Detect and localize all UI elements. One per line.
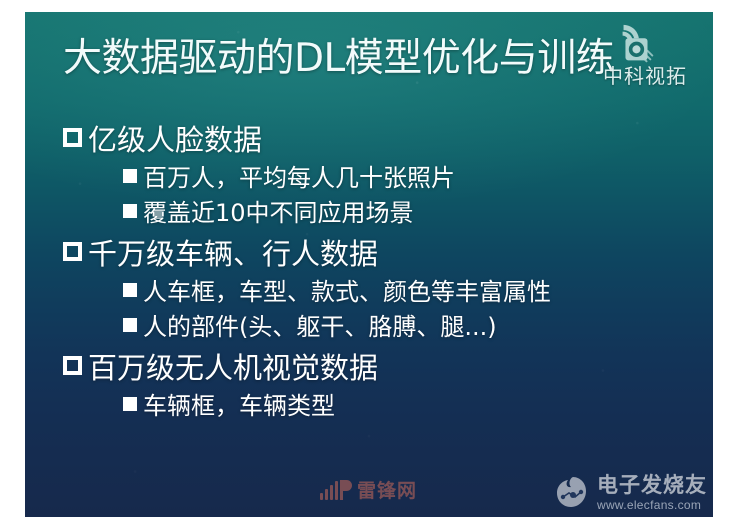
- bullet-group: 百万级无人机视觉数据 车辆框，车辆类型: [63, 348, 699, 424]
- bullet-level1-label: 亿级人脸数据: [88, 120, 262, 161]
- elecfans-watermark: 电子发烧友 www.elecfans.com: [553, 473, 707, 513]
- brand-logo: 中科视拓: [585, 20, 705, 98]
- leifeng-bars-icon: [320, 480, 352, 500]
- bullet-level2: 人的部件(头、躯干、胳膊、腿...): [123, 310, 699, 345]
- bullet-level2: 车辆框，车辆类型: [123, 389, 699, 424]
- camera-aperture-icon: [613, 22, 659, 68]
- bullet-level2-label: 百万人，平均每人几十张照片: [143, 161, 455, 196]
- bullet-level2: 百万人，平均每人几十张照片: [123, 161, 699, 196]
- slide-title: 大数据驱动的DL模型优化与训练: [63, 34, 614, 84]
- hollow-square-bullet-icon: [63, 356, 82, 375]
- bullet-level1: 千万级车辆、行人数据: [63, 234, 699, 275]
- bullet-level1-label: 百万级无人机视觉数据: [88, 348, 378, 389]
- bullet-level2: 人车框，车型、款式、颜色等丰富属性: [123, 275, 699, 310]
- elecfans-watermark-text: 电子发烧友: [597, 475, 707, 496]
- leifeng-watermark: 雷锋网: [320, 476, 417, 503]
- filled-square-bullet-icon: [123, 169, 137, 183]
- filled-square-bullet-icon: [123, 204, 137, 218]
- bullet-level1: 百万级无人机视觉数据: [63, 348, 699, 389]
- bullet-level2: 覆盖近10中不同应用场景: [123, 196, 699, 231]
- leifeng-watermark-text: 雷锋网: [357, 476, 417, 503]
- hollow-square-bullet-icon: [63, 128, 82, 147]
- filled-square-bullet-icon: [123, 283, 137, 297]
- hollow-square-bullet-icon: [63, 242, 82, 261]
- bullet-level1-label: 千万级车辆、行人数据: [88, 234, 378, 275]
- presentation-slide: 大数据驱动的DL模型优化与训练 中科视拓: [25, 12, 713, 517]
- elecfans-circuit-icon: [553, 473, 593, 513]
- bullet-group: 千万级车辆、行人数据 人车框，车型、款式、颜色等丰富属性 人的部件(头、躯干、胳…: [63, 234, 699, 345]
- bullet-level1: 亿级人脸数据: [63, 120, 699, 161]
- slide-content: 亿级人脸数据 百万人，平均每人几十张照片 覆盖近10中不同应用场景 千万级车辆、…: [63, 120, 699, 427]
- elecfans-watermark-words: 电子发烧友 www.elecfans.com: [597, 475, 707, 511]
- filled-square-bullet-icon: [123, 318, 137, 332]
- bullet-level2-label: 人的部件(头、躯干、胳膊、腿...): [143, 310, 497, 345]
- bullet-group: 亿级人脸数据 百万人，平均每人几十张照片 覆盖近10中不同应用场景: [63, 120, 699, 231]
- brand-name: 中科视拓: [585, 64, 705, 88]
- screenshot-root: 大数据驱动的DL模型优化与训练 中科视拓: [0, 0, 740, 530]
- filled-square-bullet-icon: [123, 397, 137, 411]
- bullet-level2-label: 人车框，车型、款式、颜色等丰富属性: [143, 275, 551, 310]
- elecfans-watermark-url: www.elecfans.com: [597, 499, 707, 511]
- bullet-level2-label: 车辆框，车辆类型: [143, 389, 335, 424]
- bullet-level2-label: 覆盖近10中不同应用场景: [143, 196, 414, 231]
